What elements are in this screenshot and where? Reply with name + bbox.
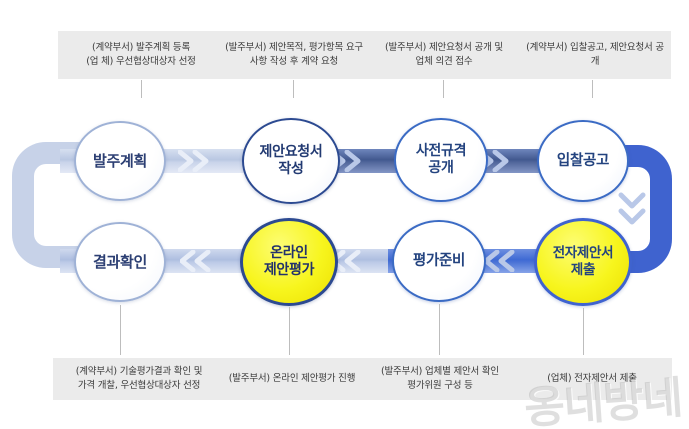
caption-bottom-2: (발주부서) 온라인 제안평가 진행 <box>214 358 370 400</box>
caption-top-3: (발주부서) 제안요청서 공개 및 업체 의견 접수 <box>369 31 519 79</box>
caption-top-4: (계약부서) 입찰공고, 제안요청서 공개 <box>519 31 671 79</box>
caption-top-2: (발주부서) 제안목적, 평가항목 요구 사항 작성 후 계약 요청 <box>218 31 370 79</box>
flow-node-ipchal-gonggo[interactable]: 입찰공고 <box>537 120 629 202</box>
caption-stem-bottom-3 <box>439 304 440 355</box>
flow-node-jeonja-jeanseo-jechul[interactable]: 전자제안서 제출 <box>534 218 632 306</box>
flow-node-gyeolgwa-hwagin[interactable]: 결과확인 <box>74 222 166 302</box>
flow-node-balju-gyehoek[interactable]: 발주계획 <box>74 121 166 201</box>
caption-bottom-3: (발주부서) 업체별 제안서 확인 평가위원 구성 등 <box>364 358 516 400</box>
caption-bottom-1: (계약부서) 기술평가결과 확인 및 가격 개찰, 우선협상대상자 선정 <box>53 358 225 400</box>
flow-node-jean-yocheongseo-jakseong[interactable]: 제안요청서 작성 <box>242 118 340 204</box>
flow-node-pyeongga-junbi[interactable]: 평가준비 <box>392 220 486 302</box>
flow-node-online-jean-pyeongga[interactable]: 온라인 제안평가 <box>240 218 338 306</box>
caption-stem-bottom-4 <box>583 308 584 355</box>
caption-bottom-4: (업체) 전자제안서 제출 <box>512 358 672 400</box>
caption-stem-bottom-1 <box>120 305 121 355</box>
caption-stem-top-2 <box>293 80 294 98</box>
flow-node-sajeon-gyugyeok-gonggae[interactable]: 사전규격 공개 <box>394 118 488 202</box>
caption-stem-bottom-2 <box>289 307 290 355</box>
caption-stem-top-1 <box>141 80 142 98</box>
caption-stem-top-4 <box>592 80 593 98</box>
caption-stem-top-3 <box>443 80 444 98</box>
caption-top-1: (계약부서) 발주계획 등록 (업 체) 우선협상대상자 선정 <box>58 31 224 79</box>
process-flow-diagram: (계약부서) 발주계획 등록 (업 체) 우선협상대상자 선정 (발주부서) 제… <box>0 0 689 429</box>
